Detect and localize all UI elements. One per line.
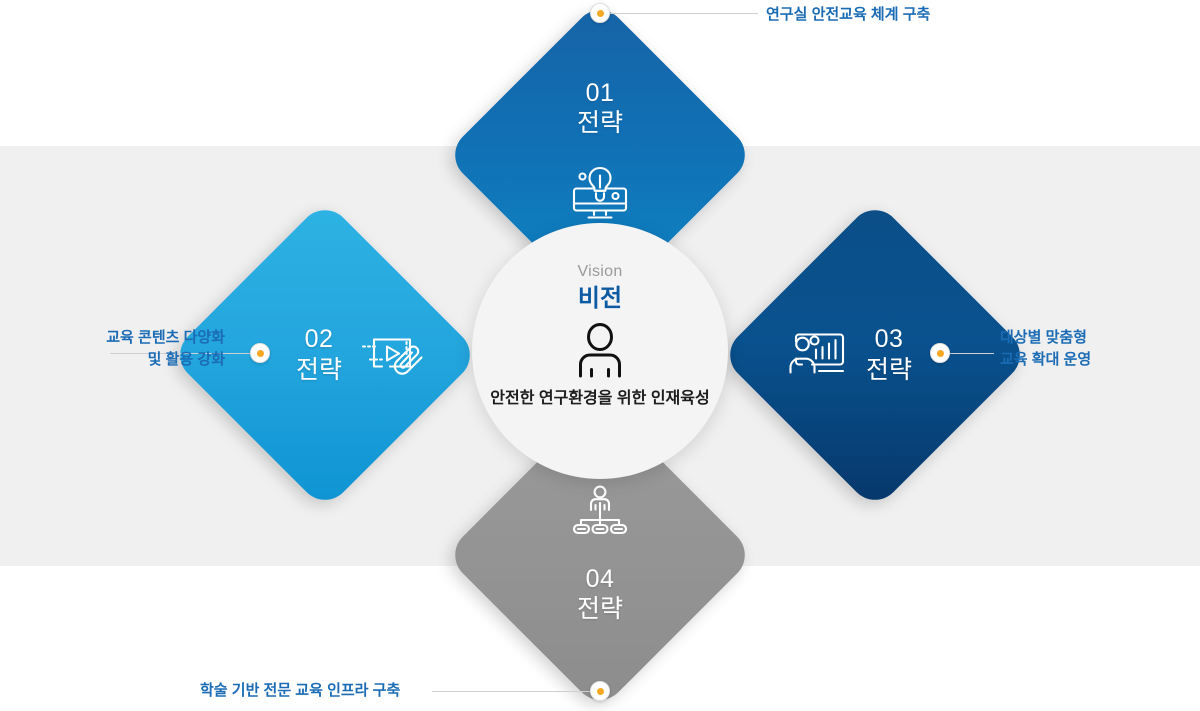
vision-circle[interactable]: Vision 비전 안전한 연구환경을 위한 인재육성: [472, 223, 728, 479]
outer-label-02: 교육 콘텐츠 다양화 및 활용 강화: [55, 327, 225, 371]
outer-label-04: 학술 기반 전문 교육 인프라 구축: [200, 680, 400, 702]
person-icon: [573, 322, 627, 383]
connector-line-bottom: [432, 691, 590, 692]
connector-line-top: [610, 13, 758, 14]
vision-description: 안전한 연구환경을 위한 인재육성: [490, 388, 709, 410]
vision-title-en: Vision: [577, 263, 622, 281]
connector-dot-right: [930, 343, 950, 363]
connector-line-right: [950, 353, 994, 354]
connector-dot-top: [590, 3, 610, 23]
connector-dot-bottom: [590, 681, 610, 701]
vision-title-ko: 비전: [578, 285, 622, 313]
vision-strategy-diagram: 01 전략 02 전략: [0, 0, 1200, 708]
outer-label-03: 대상별 맞춤형 교육 확대 운영: [1000, 327, 1170, 371]
outer-label-01: 연구실 안전교육 체계 구축: [766, 4, 930, 26]
connector-dot-left: [250, 343, 270, 363]
